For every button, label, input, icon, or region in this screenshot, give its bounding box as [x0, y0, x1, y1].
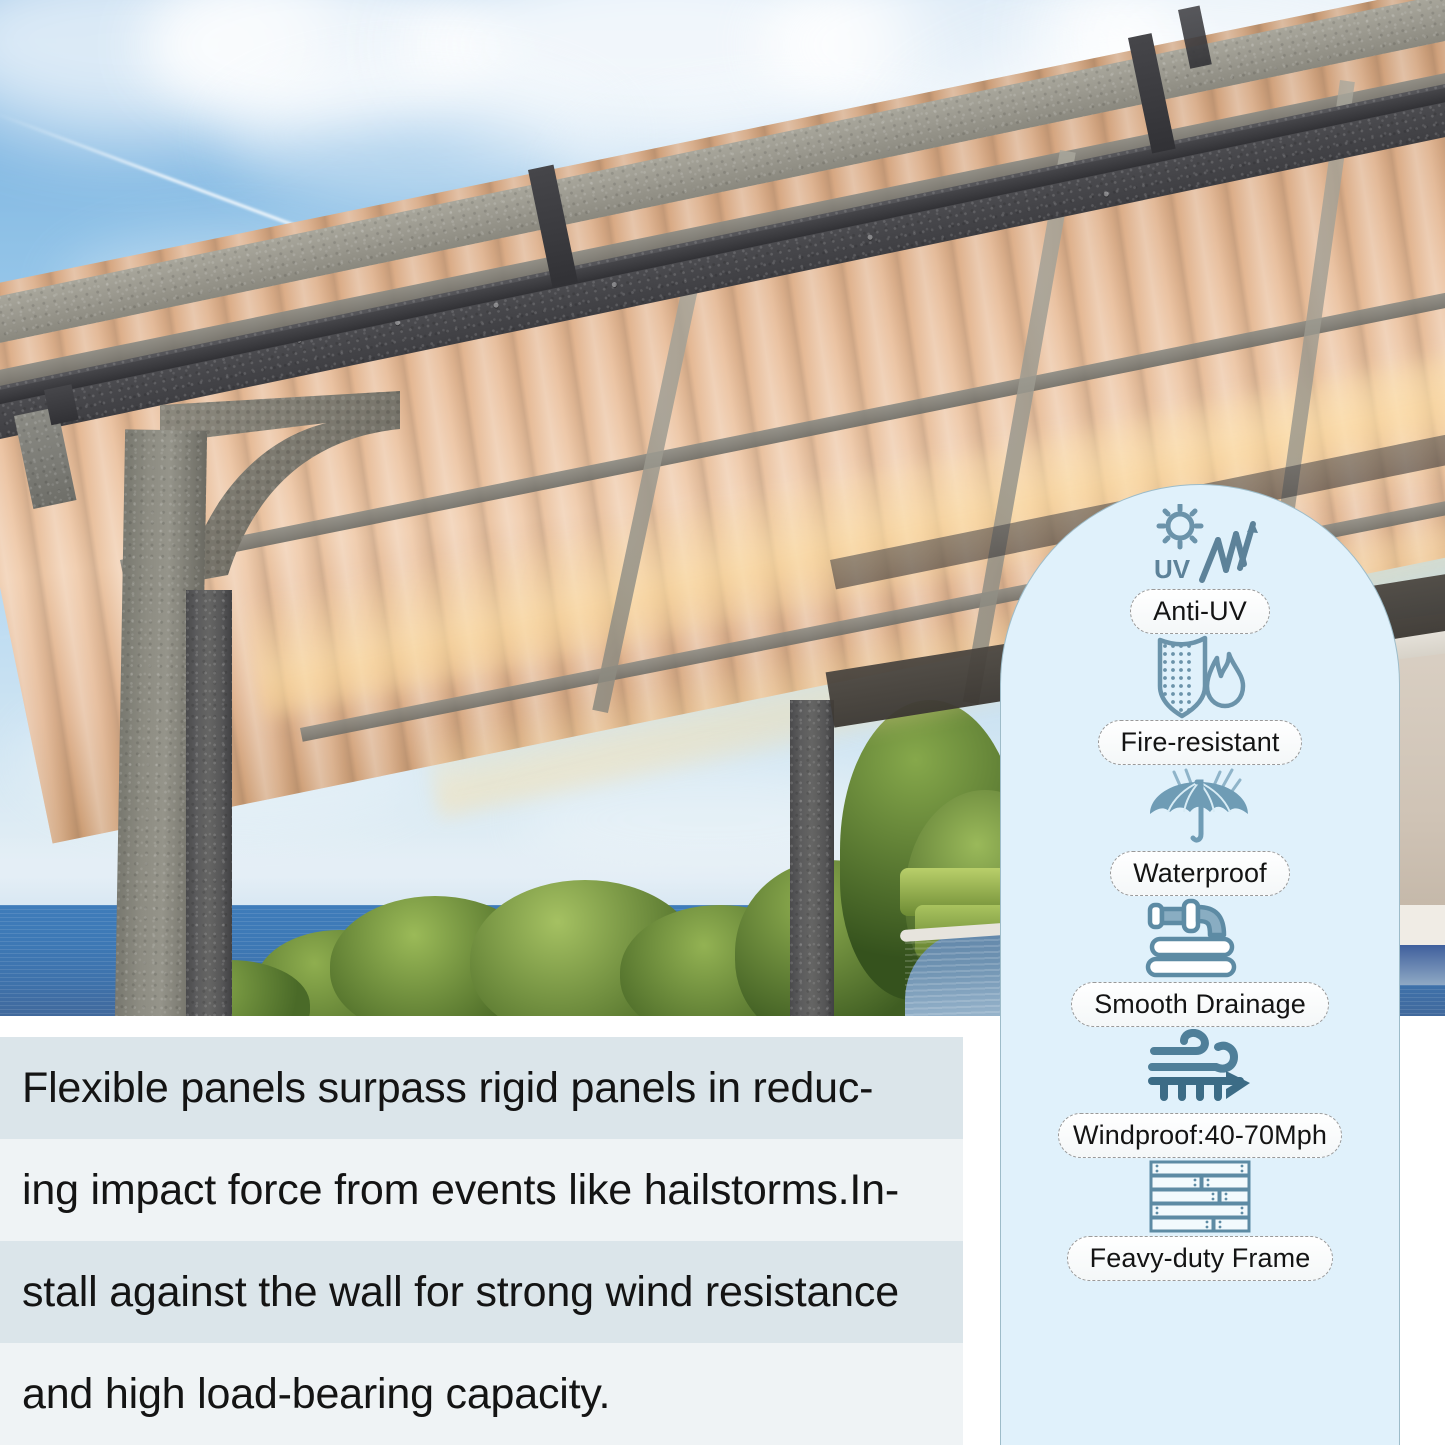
description-line: stall against the wall for strong wind r…	[0, 1241, 963, 1343]
description-line: Flexible panels surpass rigid panels in …	[0, 1037, 963, 1139]
product-image-canvas: Flexible panels surpass rigid panels in …	[0, 0, 1445, 1445]
feature-label: Anti-UV	[1130, 589, 1270, 634]
fire-resistant-shield-icon	[1145, 634, 1255, 720]
feature-label: Smooth Drainage	[1071, 982, 1329, 1027]
feature-label: Fire-resistant	[1098, 720, 1303, 765]
pergola-post-left-inner	[186, 590, 232, 1016]
feature-smooth-drainage: Smooth Drainage	[1001, 896, 1399, 1027]
feature-heavy-duty-frame: Feavy-duty Frame	[1001, 1158, 1399, 1281]
feature-label: Waterproof	[1110, 851, 1290, 896]
feature-windproof: Windproof:40-70Mph	[1001, 1027, 1399, 1158]
feature-fire-resistant: Fire-resistant	[1001, 634, 1399, 765]
anti-uv-sun-icon: UV	[1140, 503, 1260, 589]
svg-text:UV: UV	[1154, 554, 1191, 584]
feature-label: Windproof:40-70Mph	[1058, 1113, 1342, 1158]
feature-list-panel: UV Anti-UV	[1000, 484, 1400, 1445]
smooth-drainage-hose-icon	[1140, 896, 1260, 982]
feature-label: Feavy-duty Frame	[1067, 1236, 1334, 1281]
description-line: and high load-bearing capacity.	[0, 1343, 963, 1445]
description-line: ing impact force from events like hailst…	[0, 1139, 963, 1241]
waterproof-umbrella-icon	[1136, 765, 1264, 851]
windproof-wind-icon	[1140, 1027, 1260, 1113]
feature-waterproof: Waterproof	[1001, 765, 1399, 896]
heavy-duty-frame-icon	[1147, 1158, 1253, 1236]
description-text-block: Flexible panels surpass rigid panels in …	[0, 1037, 963, 1445]
pergola-post-middle	[790, 700, 834, 1016]
